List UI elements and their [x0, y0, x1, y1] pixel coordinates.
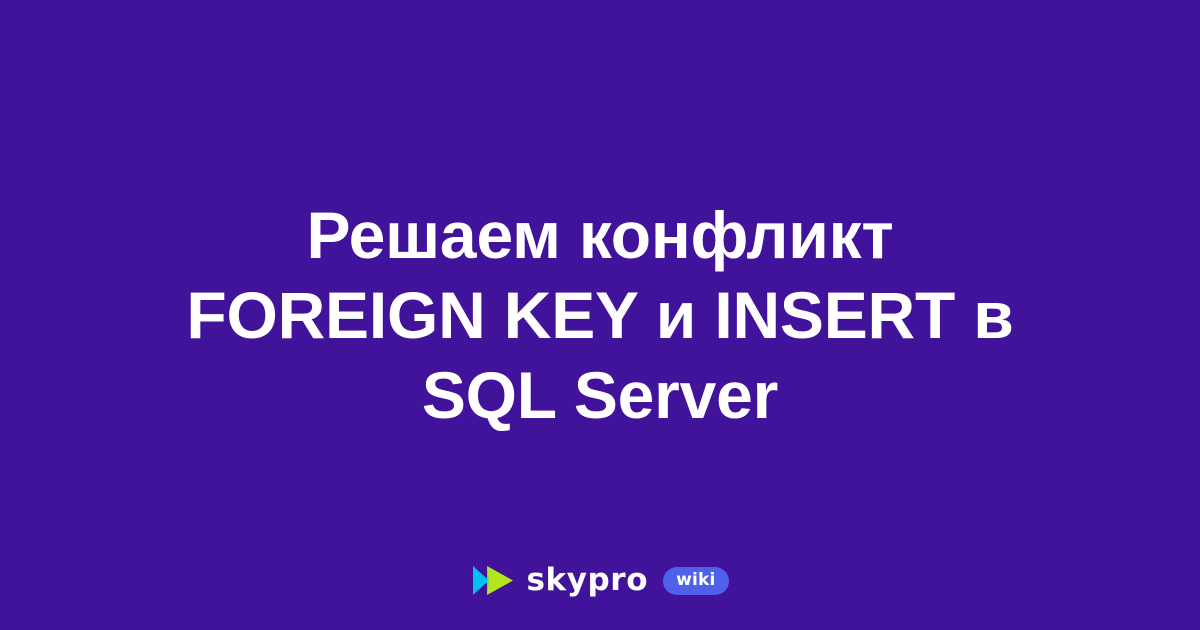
brand-logo[interactable]: skypro wiki	[471, 565, 728, 596]
page-title: Решаем конфликт FOREIGN KEY и INSERT в S…	[150, 195, 1050, 435]
brand-name: skypro	[526, 565, 648, 596]
title-container: Решаем конфликт FOREIGN KEY и INSERT в S…	[0, 0, 1200, 630]
skypro-play-mark-icon	[471, 565, 515, 596]
og-card: Решаем конфликт FOREIGN KEY и INSERT в S…	[0, 0, 1200, 630]
footer: skypro wiki	[0, 565, 1200, 596]
wiki-badge[interactable]: wiki	[663, 567, 728, 595]
